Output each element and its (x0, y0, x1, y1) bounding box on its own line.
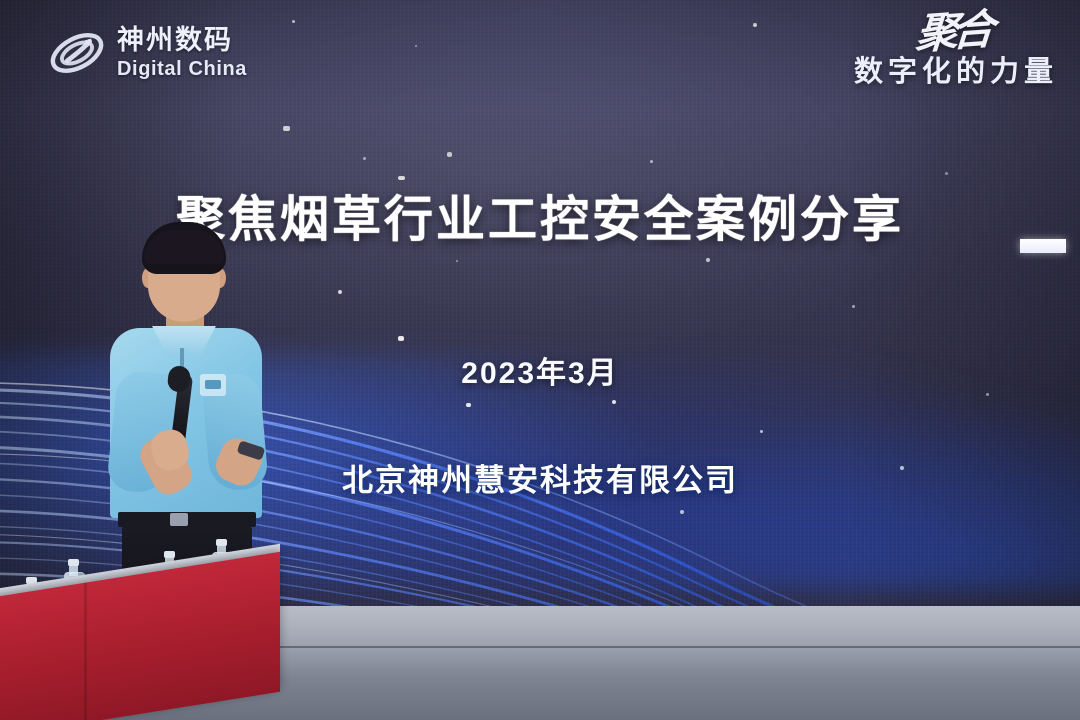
title-dash-accent (1020, 239, 1066, 253)
presenter-fringe (144, 230, 224, 264)
digital-china-swirl-logo-icon (46, 22, 108, 84)
presenter-belt-buckle (170, 513, 188, 526)
panel-table (0, 560, 288, 720)
conference-stage-photo: 神州数码 Digital China 聚合 数字化的力量 聚焦烟草行业工控安全案… (0, 0, 1080, 720)
logo-name-en: Digital China (117, 59, 247, 79)
event-slogan: 聚合 数字化的力量 (854, 16, 1058, 90)
digital-china-logo: 神州数码 Digital China (46, 22, 247, 84)
slogan-mark-cn: 聚合 (914, 14, 989, 55)
table-drape (0, 552, 280, 720)
presenter-chest-logo-icon (200, 374, 226, 396)
logo-name-cn: 神州数码 (117, 27, 247, 54)
